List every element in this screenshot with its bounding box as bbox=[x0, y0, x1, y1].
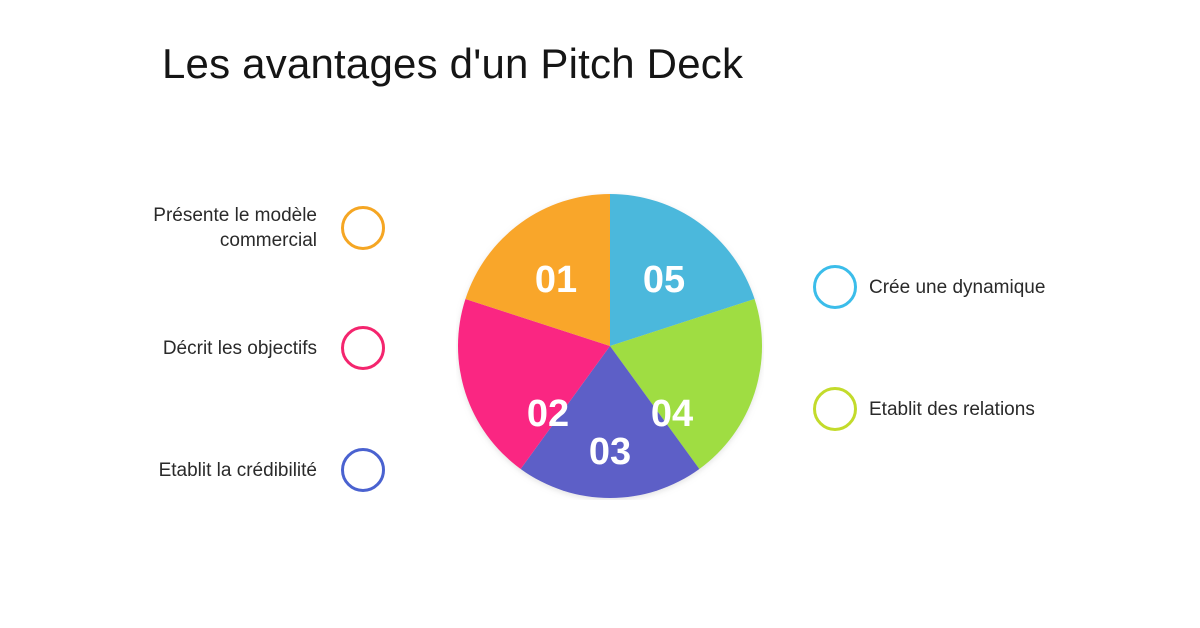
orange-ring-icon[interactable] bbox=[341, 206, 385, 250]
blue-ring-icon[interactable] bbox=[341, 448, 385, 492]
legend-item-cree-une-dynamique[interactable]: Crée une dynamique bbox=[813, 265, 1153, 309]
pie-chart: 05 04 03 02 01 bbox=[456, 192, 764, 500]
legend-label: Etablit la crédibilité bbox=[159, 458, 317, 483]
pie-slice-label-03: 03 bbox=[589, 431, 631, 473]
legend-item-presente-le-modele-commercial[interactable]: Présente le modèle commercial bbox=[60, 203, 385, 253]
pink-ring-icon[interactable] bbox=[341, 326, 385, 370]
legend-item-decrit-les-objectifs[interactable]: Décrit les objectifs bbox=[60, 326, 385, 370]
pie-slice-label-01: 01 bbox=[535, 259, 577, 301]
page-title: Les avantages d'un Pitch Deck bbox=[162, 38, 743, 90]
pie-chart-svg: 05 04 03 02 01 bbox=[456, 192, 764, 500]
legend-item-etablit-des-relations[interactable]: Etablit des relations bbox=[813, 387, 1153, 431]
legend-item-etablit-la-credibilite[interactable]: Etablit la crédibilité bbox=[60, 448, 385, 492]
legend-label: Crée une dynamique bbox=[869, 275, 1045, 300]
lime-ring-icon[interactable] bbox=[813, 387, 857, 431]
cyan-ring-icon[interactable] bbox=[813, 265, 857, 309]
legend-label: Décrit les objectifs bbox=[163, 336, 317, 361]
pie-slice-label-04: 04 bbox=[651, 393, 693, 435]
pie-slice-label-02: 02 bbox=[527, 393, 569, 435]
legend-label: Etablit des relations bbox=[869, 397, 1035, 422]
pie-slice-label-05: 05 bbox=[643, 259, 685, 301]
legend-label: Présente le modèle commercial bbox=[153, 203, 317, 253]
slide-canvas: Les avantages d'un Pitch Deck 05 bbox=[0, 0, 1200, 628]
